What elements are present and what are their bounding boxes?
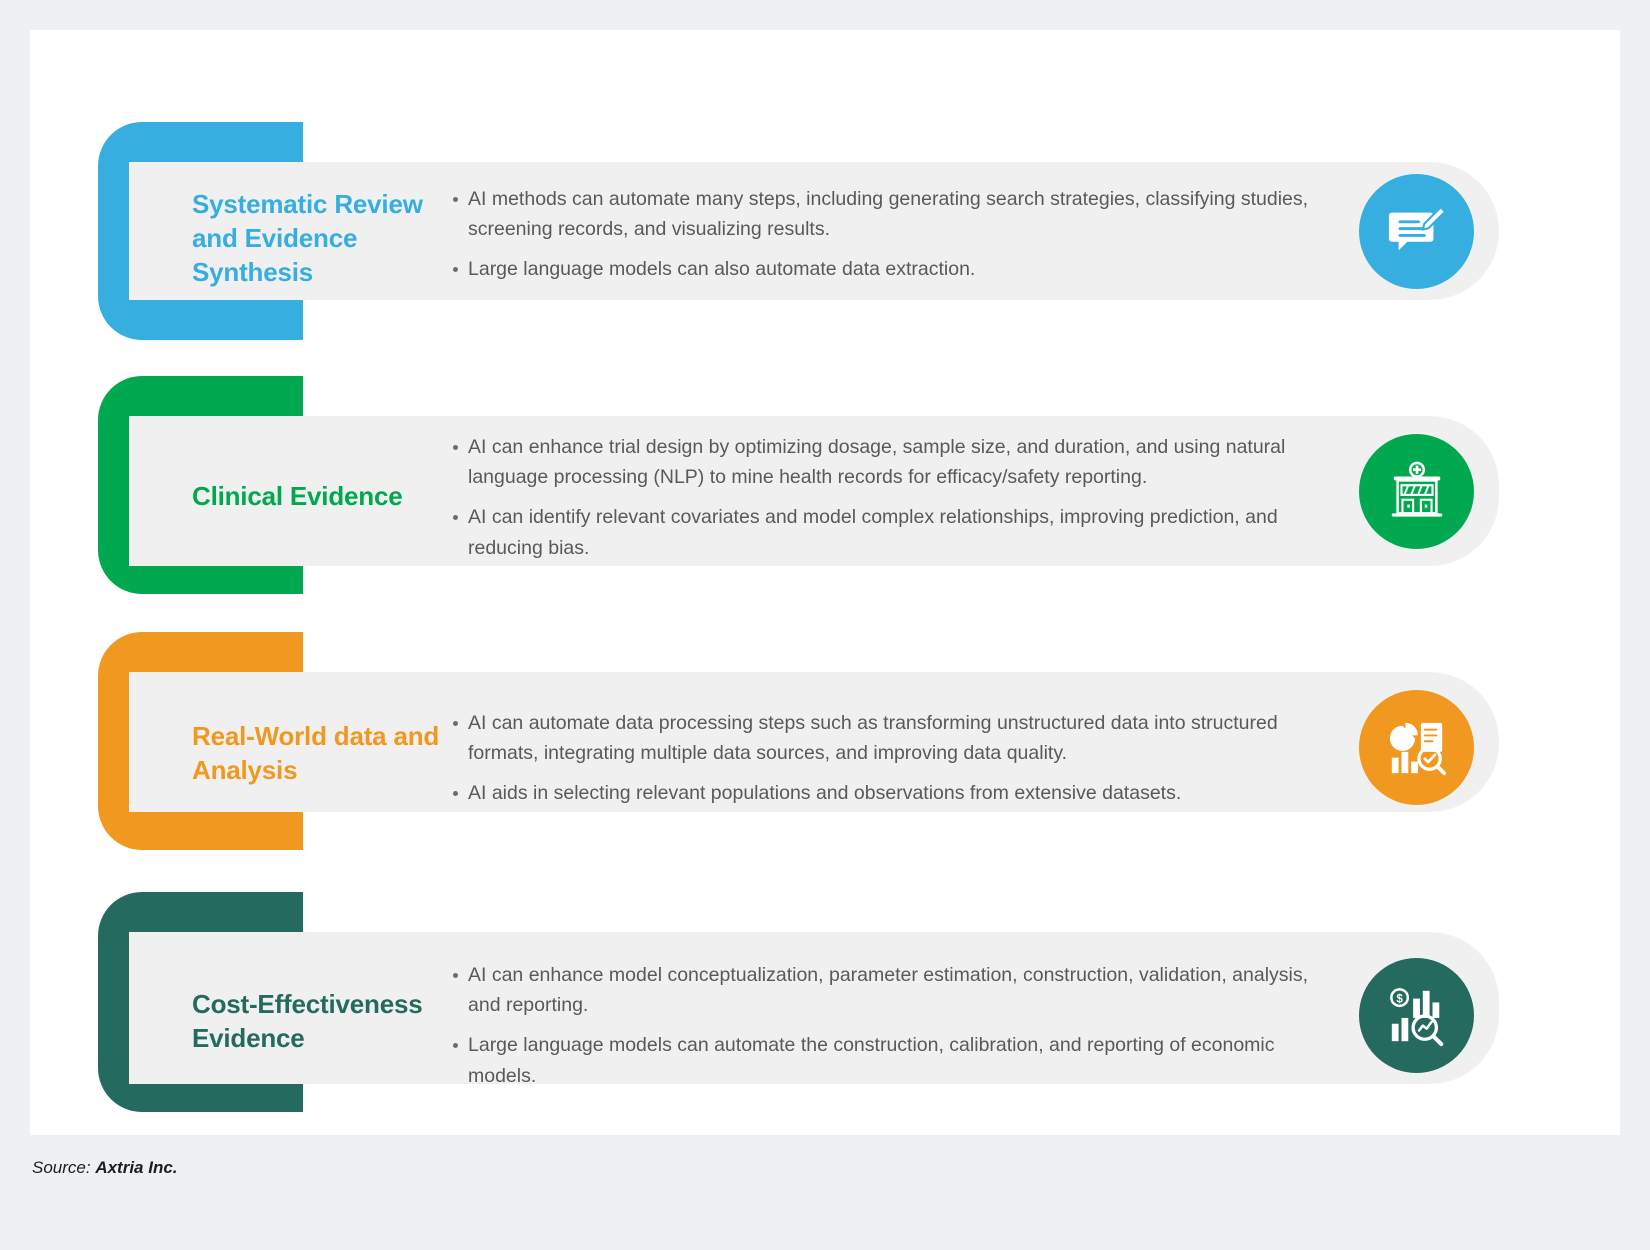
hospital-building-icon <box>1359 434 1474 549</box>
list-item: AI methods can automate many steps, incl… <box>452 184 1342 244</box>
cost-analysis-magnifier-icon: $ <box>1359 958 1474 1073</box>
row-title: Systematic Review and Evidence Synthesis <box>192 188 442 289</box>
bullet-list: AI can automate data processing steps su… <box>452 708 1342 809</box>
row-systematic-review: Systematic Review and Evidence Synthesis… <box>30 90 1620 315</box>
bullet-list: AI can enhance model conceptualization, … <box>452 960 1342 1091</box>
row-real-world-data: Real-World data and Analysis AI can auto… <box>30 608 1620 833</box>
row-clinical-evidence: Clinical Evidence AI can enhance trial d… <box>30 350 1620 575</box>
source-name: Axtria Inc. <box>95 1158 177 1177</box>
row-title: Real-World data and Analysis <box>192 720 442 788</box>
svg-text:$: $ <box>1396 992 1403 1005</box>
row-title: Cost-Effectiveness Evidence <box>192 988 442 1056</box>
source-footer: Source: Axtria Inc. <box>32 1158 178 1178</box>
bullet-list: AI can enhance trial design by optimizin… <box>452 432 1342 563</box>
list-item: Large language models can automate the c… <box>452 1030 1342 1090</box>
list-item: AI can enhance trial design by optimizin… <box>452 432 1342 492</box>
list-item: AI can enhance model conceptualization, … <box>452 960 1342 1020</box>
list-item: AI can automate data processing steps su… <box>452 708 1342 768</box>
list-item: Large language models can also automate … <box>452 254 1342 284</box>
infographic-page: Systematic Review and Evidence Synthesis… <box>0 0 1650 1250</box>
speech-bubble-edit-icon <box>1359 174 1474 289</box>
rows-container: Systematic Review and Evidence Synthesis… <box>30 30 1620 1135</box>
row-cost-effectiveness: Cost-Effectiveness Evidence AI can enhan… <box>30 868 1620 1093</box>
data-analysis-chart-icon <box>1359 690 1474 805</box>
content-card: Systematic Review and Evidence Synthesis… <box>30 30 1620 1135</box>
list-item: AI aids in selecting relevant population… <box>452 778 1342 808</box>
list-item: AI can identify relevant covariates and … <box>452 502 1342 562</box>
row-title: Clinical Evidence <box>192 480 442 514</box>
bullet-list: AI methods can automate many steps, incl… <box>452 184 1342 285</box>
source-label: Source: <box>32 1158 91 1177</box>
